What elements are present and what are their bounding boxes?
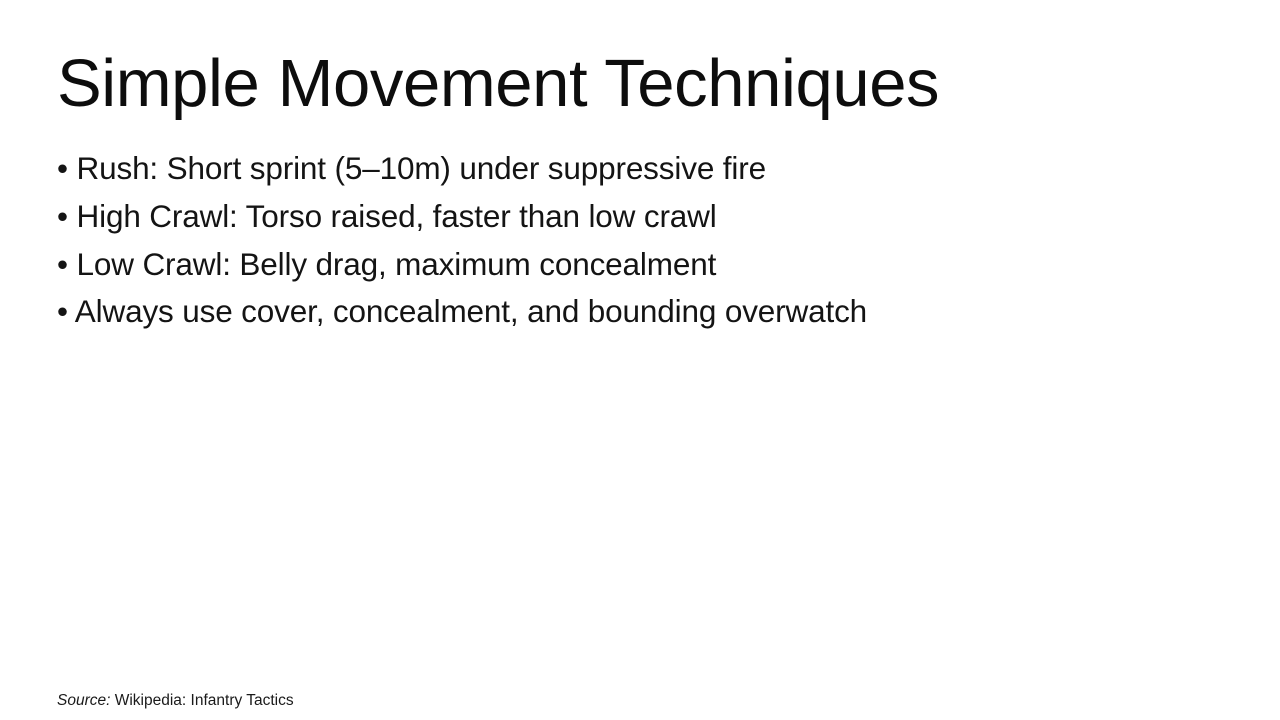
source-citation: Source: Wikipedia: Infantry Tactics (57, 691, 294, 711)
slide-canvas: Simple Movement Techniques • Rush: Short… (0, 0, 1280, 720)
source-label: Source: (57, 692, 110, 709)
list-item-label: Low Crawl: Belly drag, maximum concealme… (77, 246, 717, 282)
list-item: • Rush: Short sprint (5–10m) under suppr… (57, 145, 1207, 193)
bullet-list: • Rush: Short sprint (5–10m) under suppr… (57, 145, 1207, 336)
list-item-label: Always use cover, concealment, and bound… (75, 293, 867, 329)
list-item-label: Rush: Short sprint (5–10m) under suppres… (77, 150, 766, 186)
bullet-point-icon: • (57, 293, 68, 329)
source-value: Wikipedia: Infantry Tactics (115, 692, 294, 709)
page-title: Simple Movement Techniques (57, 50, 939, 117)
bullet-point-icon: • (57, 150, 68, 186)
bullet-point-icon: • (57, 198, 68, 234)
list-item: • Low Crawl: Belly drag, maximum conceal… (57, 241, 1207, 289)
list-item: • High Crawl: Torso raised, faster than … (57, 193, 1207, 241)
list-item: • Always use cover, concealment, and bou… (57, 288, 1207, 336)
list-item-label: High Crawl: Torso raised, faster than lo… (77, 198, 717, 234)
bullet-point-icon: • (57, 246, 68, 282)
